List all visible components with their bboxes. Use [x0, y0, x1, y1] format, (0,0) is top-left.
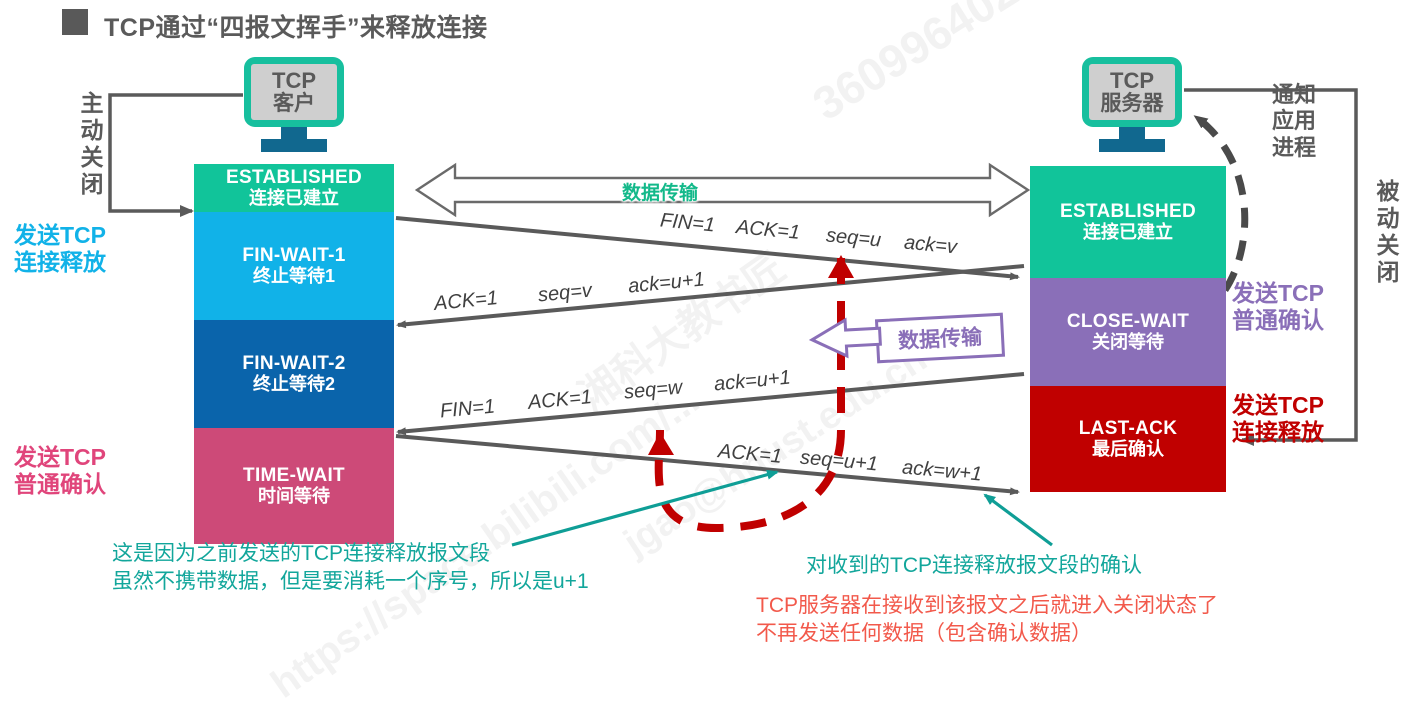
teal-pointer-right — [985, 495, 1052, 545]
segment-2-part-3: ack=u+1 — [627, 268, 706, 298]
state-cn: 最后确认 — [1092, 440, 1164, 460]
segment-1-part-1: FIN=1 — [659, 209, 716, 237]
note-red-right: TCP服务器在接收到该报文之后就进入关闭状态了 不再发送任何数据（包含确认数据） — [756, 592, 1218, 649]
annotation-line-1: 发送TCP — [1232, 280, 1324, 307]
state-en: CLOSE-WAIT — [1067, 312, 1189, 333]
annotation-send-tcp-ack-server: 发送TCP 普通确认 — [1232, 280, 1324, 334]
segment-2-part-1: ACK=1 — [433, 287, 499, 316]
state-box-last-ack[interactable]: LAST-ACK 最后确认 — [1030, 386, 1226, 492]
state-cn: 关闭等待 — [1092, 333, 1164, 353]
page-title-bar: TCP通过“四报文挥手”来释放连接 — [0, 0, 1428, 44]
segment-2-part-2: seq=v — [537, 280, 593, 308]
note-teal-left: 这是因为之前发送的TCP连接释放报文段 虽然不携带数据，但是要消耗一个序号，所以… — [112, 540, 589, 597]
data-transfer-callout: 数据传输 — [875, 313, 1005, 364]
annotation-line-1: 发送TCP — [14, 444, 106, 471]
segment-1-part-4: ack=v — [903, 232, 958, 260]
annotation-line-1: 发送TCP — [1232, 392, 1324, 419]
state-en: LAST-ACK — [1079, 419, 1177, 440]
tcp-client-host: TCP 客户 — [244, 57, 344, 152]
state-box-fin-wait-1[interactable]: FIN-WAIT-1 终止等待1 — [194, 212, 394, 320]
segment-1-part-2: ACK=1 — [735, 216, 801, 245]
diagram-canvas: 360996402 https://space.bilibili.com/...… — [0, 0, 1428, 682]
note-teal-left-line-2: 虽然不携带数据，但是要消耗一个序号，所以是u+1 — [112, 568, 589, 596]
note-red-right-line-1: TCP服务器在接收到该报文之后就进入关闭状态了 — [756, 592, 1218, 620]
state-en: ESTABLISHED — [1060, 202, 1196, 223]
notify-application-label: 通知 应用 进程 — [1272, 82, 1316, 161]
segment-4-part-2: seq=u+1 — [799, 447, 879, 477]
note-red-right-line-2: 不再发送任何数据（包含确认数据） — [756, 620, 1218, 648]
server-stand-base — [1099, 139, 1165, 152]
data-transfer-top-label: 数据传输 — [622, 178, 698, 205]
note-teal-left-line-1: 这是因为之前发送的TCP连接释放报文段 — [112, 540, 589, 568]
annotation-send-tcp-ack-client: 发送TCP 普通确认 — [14, 444, 106, 498]
state-en: FIN-WAIT-1 — [242, 246, 345, 267]
state-box-established-client[interactable]: ESTABLISHED 连接已建立 — [194, 164, 394, 212]
note-teal-right-line-1: 对收到的TCP连接释放报文段的确认 — [806, 552, 1142, 580]
active-close-vertical-label: 主动关闭 — [78, 90, 106, 199]
client-label-line2: 客户 — [273, 93, 315, 114]
annotation-line-2: 连接释放 — [14, 249, 106, 276]
segment-3-part-4: ack=u+1 — [713, 367, 792, 397]
state-box-fin-wait-2[interactable]: FIN-WAIT-2 终止等待2 — [194, 320, 394, 428]
annotation-line-2: 普通确认 — [14, 471, 106, 498]
segment-3-part-3: seq=w — [623, 376, 683, 404]
notify-line-3: 进程 — [1272, 135, 1316, 161]
segment-3-part-2: ACK=1 — [527, 386, 593, 415]
server-monitor-icon: TCP 服务器 — [1082, 57, 1182, 127]
server-label-line2: 服务器 — [1101, 93, 1164, 114]
segment-1-part-3: seq=u — [825, 224, 882, 252]
annotation-send-tcp-release-client: 发送TCP 连接释放 — [14, 222, 106, 276]
server-stand-neck — [1119, 127, 1145, 139]
passive-close-vertical-label: 被动关闭 — [1374, 178, 1402, 287]
state-en: ESTABLISHED — [226, 168, 362, 189]
state-box-time-wait[interactable]: TIME-WAIT 时间等待 — [194, 428, 394, 544]
state-en: TIME-WAIT — [243, 466, 345, 487]
segment-4-part-1: ACK=1 — [717, 440, 783, 469]
page-title: TCP通过“四报文挥手”来释放连接 — [104, 8, 488, 44]
state-box-established-server[interactable]: ESTABLISHED 连接已建立 — [1030, 166, 1226, 278]
state-en: FIN-WAIT-2 — [242, 354, 345, 375]
client-stand-base — [261, 139, 327, 152]
annotation-line-2: 连接释放 — [1232, 419, 1324, 446]
client-label-line1: TCP — [272, 70, 316, 92]
segment-3-part-1: FIN=1 — [439, 396, 496, 424]
segment-4-part-3: ack=w+1 — [901, 456, 983, 486]
state-box-close-wait[interactable]: CLOSE-WAIT 关闭等待 — [1030, 278, 1226, 386]
annotation-line-1: 发送TCP — [14, 222, 106, 249]
state-cn: 连接已建立 — [249, 189, 339, 209]
state-cn: 终止等待2 — [253, 375, 335, 395]
state-cn: 连接已建立 — [1083, 223, 1173, 243]
teal-pointer-left — [512, 472, 777, 545]
server-label-line1: TCP — [1110, 70, 1154, 92]
notify-line-1: 通知 — [1272, 82, 1316, 108]
tcp-server-host: TCP 服务器 — [1082, 57, 1182, 152]
client-stand-neck — [281, 127, 307, 139]
notify-line-2: 应用 — [1272, 108, 1316, 134]
annotation-send-tcp-release-server: 发送TCP 连接释放 — [1232, 392, 1324, 446]
state-cn: 时间等待 — [258, 487, 330, 507]
note-teal-right: 对收到的TCP连接释放报文段的确认 — [806, 552, 1142, 580]
data-transfer-double-arrow — [417, 165, 1028, 215]
client-monitor-icon: TCP 客户 — [244, 57, 344, 127]
annotation-line-2: 普通确认 — [1232, 307, 1324, 334]
state-cn: 终止等待1 — [253, 267, 335, 287]
square-bullet-icon — [62, 9, 88, 35]
